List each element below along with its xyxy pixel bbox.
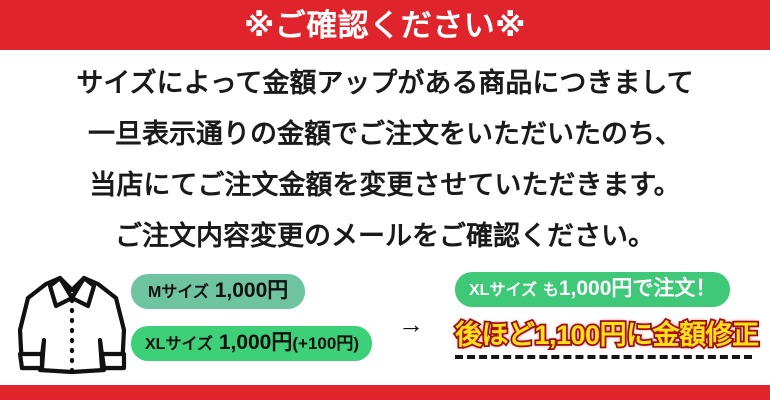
price-badge-xl: XLサイズ 1,000円(+100円) [131,326,372,361]
price-value-xl: 1,000円 [219,331,293,354]
footer-banner [0,385,770,400]
order-note-size-label: XLサイズ [469,282,537,299]
notice-text-block: サイズによって金額アップがある商品につきまして 一旦表示通りの金額でご注文をいた… [0,58,770,262]
correction-note-text: 後ほど1,100円に金額修正 [455,321,760,349]
price-value-m: 1,000円 [215,279,289,302]
price-comparison-section: Mサイズ 1,000円 XLサイズ 1,000円(+100円) → XLサイズ … [0,264,770,382]
header-banner: ※ご確認ください※ [0,0,770,50]
notice-line-3: 当店にてご注文金額を変更させていただきます。 [0,160,770,211]
dress-shirt-icon [16,268,128,378]
price-badge-m: Mサイズ 1,000円 [131,274,305,309]
order-note-particle: も [543,282,559,299]
correction-note-block: 後ほど1,100円に金額修正 [455,321,760,359]
notice-line-1: サイズによって金額アップがある商品につきまして [0,58,770,109]
notice-banner: ※ご確認ください※ サイズによって金額アップがある商品につきまして 一旦表示通り… [0,0,770,400]
notice-line-4: ご注文内容変更のメールをご確認ください。 [0,211,770,262]
size-label-m: Mサイズ [148,284,209,301]
size-label-xl: XLサイズ [145,336,213,353]
order-note-badge: XLサイズ も1,000円で注文！ [455,272,730,307]
notice-line-2: 一旦表示通りの金額でご注文をいただいたのち、 [0,109,770,160]
dashed-underline [455,355,752,359]
order-note-price: 1,000円で注文！ [559,277,717,300]
surcharge-value-xl: (+100円) [292,334,359,353]
page-title: ※ご確認ください※ [244,10,526,41]
before-prices-column: Mサイズ 1,000円 XLサイズ 1,000円(+100円) [131,274,381,361]
after-prices-column: XLサイズ も1,000円で注文！ 後ほど1,100円に金額修正 [455,272,760,359]
arrow-right-icon: → [398,311,424,337]
